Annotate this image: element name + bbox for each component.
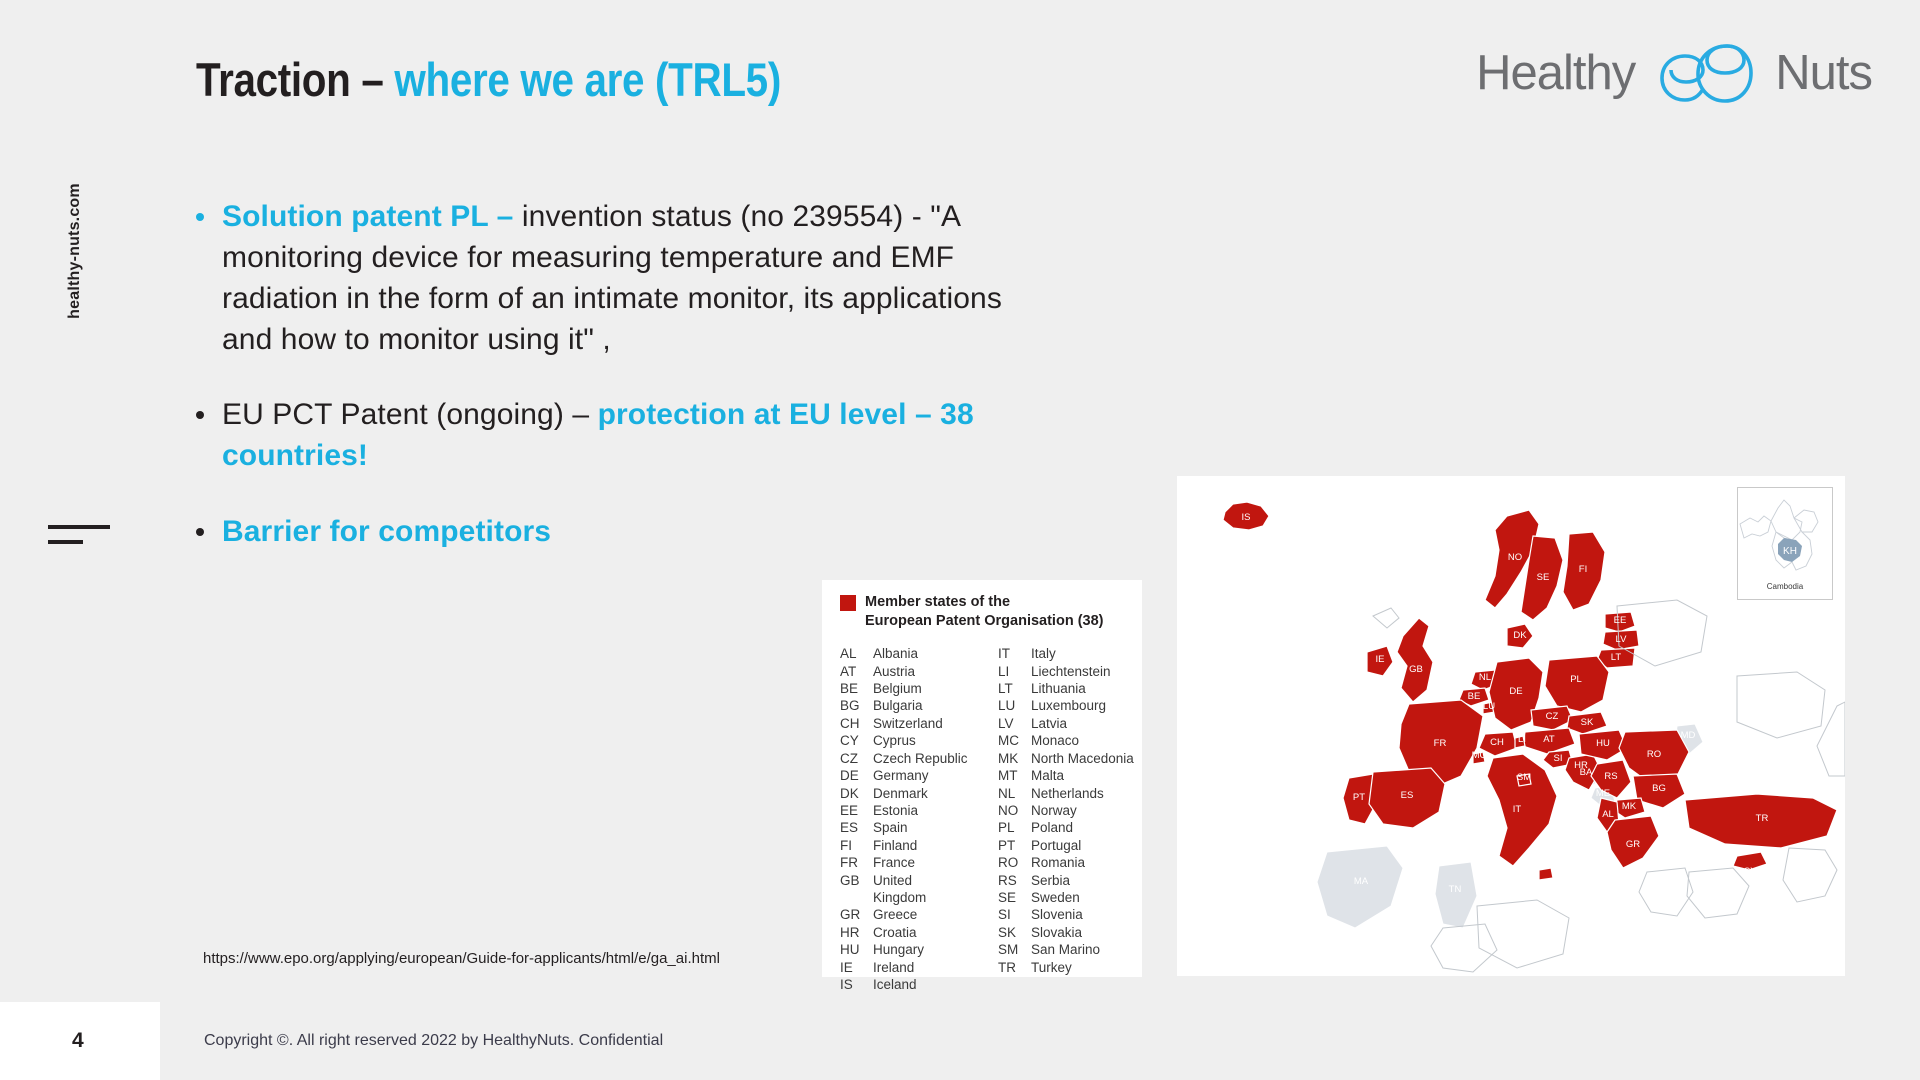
bullet-dot-icon (196, 411, 204, 419)
page-title: Traction – where we are (TRL5) (196, 52, 781, 107)
legend-country-row: BGBulgaria (840, 697, 980, 714)
nuts-outline-icon (1641, 42, 1769, 104)
copyright-notice: Copyright ©. All right reserved 2022 by … (204, 1032, 663, 1050)
legend-country-name: Sweden (1031, 889, 1138, 906)
legend-country-code: CZ (840, 750, 873, 767)
legend-country-code: RS (998, 872, 1031, 889)
bullet-text: Solution patent PL – invention status (n… (222, 196, 1056, 360)
legend-country-row: PTPortugal (998, 837, 1138, 854)
legend-country-code: BG (840, 697, 873, 714)
legend-title: Member states of the European Patent Org… (865, 593, 1104, 631)
map-label-IE: IE (1376, 654, 1385, 665)
map-label-BA: BA (1580, 767, 1593, 778)
source-url-caption: https://www.epo.org/applying/european/Gu… (203, 950, 720, 967)
legend-country-code: IS (840, 976, 873, 993)
legend-country-name: Serbia (1031, 872, 1138, 889)
map-label-FI: FI (1579, 564, 1587, 575)
legend-color-swatch-icon (840, 595, 856, 611)
map-label-PT: PT (1353, 792, 1365, 803)
legend-country-code: MT (998, 767, 1031, 784)
legend-country-name: Malta (1031, 767, 1138, 784)
legend-country-code: MK (998, 750, 1031, 767)
legend-country-name: Finland (873, 837, 980, 854)
legend-country-code: FI (840, 837, 873, 854)
legend-country-code: PT (998, 837, 1031, 854)
legend-country-name: Belgium (873, 680, 980, 697)
legend-country-row: SESweden (998, 889, 1138, 906)
map-label-AL: AL (1602, 809, 1614, 820)
legend-country-name: Romania (1031, 854, 1138, 871)
legend-country-name: Italy (1031, 645, 1138, 662)
legend-country-name: Iceland (873, 976, 980, 993)
legend-country-row: EEEstonia (840, 802, 980, 819)
legend-country-name: Luxembourg (1031, 697, 1138, 714)
map-label-SE: SE (1537, 572, 1550, 583)
map-label-DK: DK (1513, 630, 1527, 641)
legend-country-name: Netherlands (1031, 785, 1138, 802)
legend-country-code: HU (840, 941, 873, 958)
map-label-DE: DE (1509, 686, 1522, 697)
legend-country-code: LT (998, 680, 1031, 697)
legend-country-code: GR (840, 906, 873, 923)
legend-country-name: Czech Republic (873, 750, 980, 767)
map-label-FR: FR (1434, 738, 1447, 749)
legend-country-name: Latvia (1031, 715, 1138, 732)
legend-country-row: GRGreece (840, 906, 980, 923)
legend-country-name: Slovakia (1031, 924, 1138, 941)
legend-country-row: CHSwitzerland (840, 715, 980, 732)
map-label-SM: SM (1517, 772, 1531, 783)
map-label-CY: CY (1743, 866, 1757, 877)
legend-country-name: Bulgaria (873, 697, 980, 714)
map-label-SI: SI (1554, 753, 1563, 764)
legend-country-row: ESSpain (840, 819, 980, 836)
legend-country-row: ISIceland (840, 976, 980, 993)
legend-country-row: HRCroatia (840, 924, 980, 941)
map-label-MK: MK (1622, 801, 1637, 812)
bullet-text: EU PCT Patent (ongoing) – protection at … (222, 394, 1056, 476)
legend-country-name: Portugal (1031, 837, 1138, 854)
bullet-dot-icon (196, 528, 204, 536)
map-label-NL: NL (1479, 672, 1491, 683)
legend-country-row: RSSerbia (998, 872, 1138, 889)
legend-country-code: MC (998, 732, 1031, 749)
legend-country-row: ITItaly (998, 645, 1138, 662)
legend-columns: ALAlbaniaATAustriaBEBelgiumBGBulgariaCHS… (840, 645, 1142, 993)
legend-country-code: NL (998, 785, 1031, 802)
legend-country-row: SKSlovakia (998, 924, 1138, 941)
legend-country-code: LI (998, 663, 1031, 680)
legend-country-name: France (873, 854, 980, 871)
legend-country-code: GB (840, 872, 873, 889)
legend-country-name: Switzerland (873, 715, 980, 732)
bullet-dot-icon (196, 213, 204, 221)
epo-member-states-legend: Member states of the European Patent Org… (822, 580, 1142, 977)
legend-country-code: LU (998, 697, 1031, 714)
legend-country-code: CY (840, 732, 873, 749)
map-label-AT: AT (1543, 734, 1555, 745)
bullet-item: Barrier for competitors (196, 511, 1056, 552)
bullet-item: Solution patent PL – invention status (n… (196, 196, 1056, 360)
legend-country-code: ES (840, 819, 873, 836)
legend-country-name: Greece (873, 906, 980, 923)
legend-title-line1: Member states of the (865, 594, 1010, 610)
legend-country-row: FIFinland (840, 837, 980, 854)
legend-country-code: LV (998, 715, 1031, 732)
map-label-ME: ME (1596, 788, 1610, 799)
map-label-MC: MC (1472, 750, 1487, 761)
legend-country-row: ALAlbania (840, 645, 980, 662)
logo-word-nuts: Nuts (1775, 49, 1872, 98)
europe-epo-map: ISNOSEFIEELVLTDKGBIENLBELUDEPLCZSKATCHLI… (1177, 476, 1845, 976)
legend-country-code: EE (840, 802, 873, 819)
legend-country-name: Poland (1031, 819, 1138, 836)
map-label-TR: TR (1756, 813, 1769, 824)
legend-country-code: NO (998, 802, 1031, 819)
legend-country-code: PL (998, 819, 1031, 836)
brand-logo: Healthy Nuts (1476, 42, 1872, 104)
map-label-BE: BE (1468, 691, 1481, 702)
cambodia-inset: KH Cambodia (1737, 487, 1833, 600)
map-label-IT: IT (1513, 804, 1522, 815)
legend-country-code: RO (998, 854, 1031, 871)
map-label-IS: IS (1242, 512, 1251, 523)
legend-country-row: CZCzech Republic (840, 750, 980, 767)
legend-country-row: LULuxembourg (998, 697, 1138, 714)
legend-country-row: MKNorth Macedonia (998, 750, 1138, 767)
legend-country-row: LILiechtenstein (998, 663, 1138, 680)
legend-country-code: IT (998, 645, 1031, 662)
bullet-text: Barrier for competitors (222, 511, 551, 552)
page-title-accent: where we are (TRL5) (394, 53, 781, 106)
page-title-lead: Traction – (196, 53, 394, 106)
legend-country-code: CH (840, 715, 873, 732)
inset-country-code: KH (1783, 546, 1797, 557)
legend-country-row: FRFrance (840, 854, 980, 871)
bullet-plain: EU PCT Patent (ongoing) – (222, 398, 598, 431)
legend-country-code: SI (998, 906, 1031, 923)
legend-title-line2: European Patent Organisation (38) (865, 613, 1104, 629)
legend-country-code: SK (998, 924, 1031, 941)
legend-country-row: IEIreland (840, 959, 980, 976)
bullet-emphasis: Solution patent PL – (222, 200, 522, 233)
map-label-LT: LT (1611, 652, 1622, 663)
map-label-SK: SK (1581, 717, 1594, 728)
legend-country-code (840, 889, 873, 906)
bullet-emphasis: Barrier for competitors (222, 515, 551, 548)
side-website-url: healthy-nuts.com (60, 40, 90, 260)
legend-country-name: Hungary (873, 941, 980, 958)
legend-country-name: Austria (873, 663, 980, 680)
legend-country-row: MTMalta (998, 767, 1138, 784)
legend-country-code: IE (840, 959, 873, 976)
legend-country-code: FR (840, 854, 873, 871)
map-label-LV: LV (1616, 634, 1628, 645)
legend-country-row: RORomania (998, 854, 1138, 871)
legend-country-name: Norway (1031, 802, 1138, 819)
legend-header: Member states of the European Patent Org… (840, 593, 1142, 631)
legend-country-row: MCMonaco (998, 732, 1138, 749)
map-label-GB: GB (1409, 664, 1423, 675)
legend-country-name: Cyprus (873, 732, 980, 749)
map-label-NO: NO (1508, 552, 1522, 563)
map-label-BG: BG (1652, 783, 1666, 794)
legend-country-name: Liechtenstein (1031, 663, 1138, 680)
bullet-list: Solution patent PL – invention status (n… (196, 196, 1056, 586)
legend-country-name: Estonia (873, 802, 980, 819)
legend-country-name: Ireland (873, 959, 980, 976)
rule-line-long (48, 525, 110, 529)
legend-country-name: Kingdom (873, 889, 980, 906)
inset-caption: Cambodia (1738, 582, 1832, 591)
legend-country-code: DE (840, 767, 873, 784)
legend-country-row: LTLithuania (998, 680, 1138, 697)
legend-country-row: NLNetherlands (998, 785, 1138, 802)
legend-country-code: BE (840, 680, 873, 697)
decorative-rule (48, 525, 110, 544)
legend-country-row: TRTurkey (998, 959, 1138, 976)
map-country-MT (1539, 868, 1553, 880)
rule-line-short (48, 540, 83, 544)
legend-country-name: Spain (873, 819, 980, 836)
map-label-LI: LI (1518, 734, 1526, 745)
legend-country-name: North Macedonia (1031, 750, 1138, 767)
map-label-MD: MD (1681, 730, 1696, 741)
legend-country-code: AT (840, 663, 873, 680)
legend-country-name: Germany (873, 767, 980, 784)
map-label-MT: MT (1554, 867, 1568, 878)
legend-country-row: PLPoland (998, 819, 1138, 836)
map-label-PL: PL (1570, 674, 1582, 685)
map-label-RO: RO (1647, 749, 1661, 760)
map-label-CH: CH (1490, 737, 1504, 748)
legend-country-row: LVLatvia (998, 715, 1138, 732)
page-number: 4 (72, 1029, 84, 1053)
legend-country-code: TR (998, 959, 1031, 976)
legend-country-name: San Marino (1031, 941, 1138, 958)
legend-country-code: SE (998, 889, 1031, 906)
legend-country-row: CYCyprus (840, 732, 980, 749)
map-label-LU: LU (1483, 701, 1495, 712)
side-website-url-text: healthy-nuts.com (66, 183, 84, 319)
legend-country-name: Monaco (1031, 732, 1138, 749)
legend-country-code: HR (840, 924, 873, 941)
logo-word-healthy: Healthy (1476, 49, 1635, 98)
legend-country-row: BEBelgium (840, 680, 980, 697)
map-label-EE: EE (1614, 615, 1627, 626)
legend-country-row: DEGermany (840, 767, 980, 784)
legend-country-code: DK (840, 785, 873, 802)
legend-country-code: SM (998, 941, 1031, 958)
legend-country-name: Denmark (873, 785, 980, 802)
map-label-GR: GR (1626, 839, 1640, 850)
legend-country-row: GBUnited (840, 872, 980, 889)
map-label-ES: ES (1401, 790, 1414, 801)
legend-country-code: AL (840, 645, 873, 662)
legend-country-row: Kingdom (840, 889, 980, 906)
legend-country-row: NONorway (998, 802, 1138, 819)
legend-column-left: ALAlbaniaATAustriaBEBelgiumBGBulgariaCHS… (840, 645, 980, 993)
bullet-item: EU PCT Patent (ongoing) – protection at … (196, 394, 1056, 476)
cambodia-inset-svg: KH (1738, 488, 1832, 581)
map-label-HU: HU (1596, 738, 1610, 749)
legend-column-right: ITItalyLILiechtensteinLTLithuaniaLULuxem… (998, 645, 1138, 993)
legend-country-row: HUHungary (840, 941, 980, 958)
legend-country-name: Croatia (873, 924, 980, 941)
map-label-RS: RS (1604, 771, 1617, 782)
legend-country-name: Albania (873, 645, 980, 662)
legend-country-name: United (873, 872, 980, 889)
legend-country-name: Turkey (1031, 959, 1138, 976)
legend-country-name: Lithuania (1031, 680, 1138, 697)
map-label-CZ: CZ (1546, 711, 1559, 722)
legend-country-name: Slovenia (1031, 906, 1138, 923)
legend-country-row: ATAustria (840, 663, 980, 680)
legend-country-row: SISlovenia (998, 906, 1138, 923)
map-label-MA: MA (1354, 876, 1369, 887)
legend-country-row: SMSan Marino (998, 941, 1138, 958)
legend-country-row: DKDenmark (840, 785, 980, 802)
map-label-TN: TN (1449, 884, 1462, 895)
